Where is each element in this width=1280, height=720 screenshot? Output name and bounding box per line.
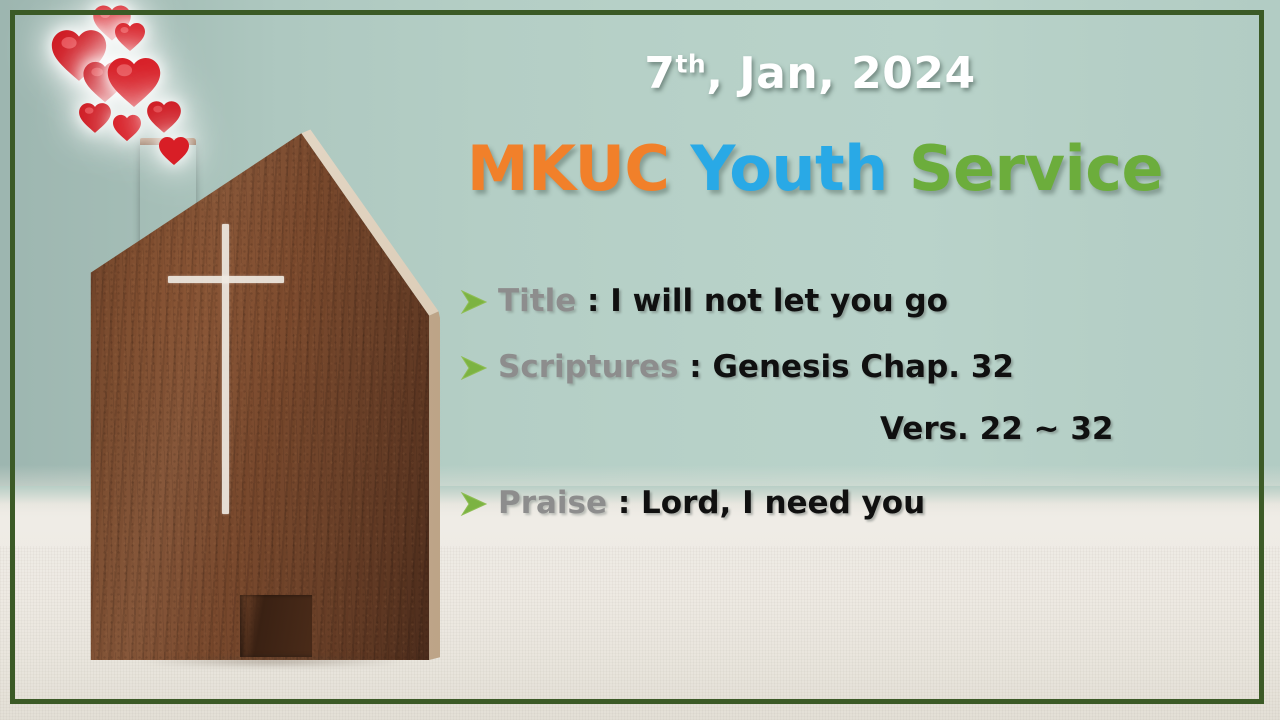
service-details-list: Title : I will not let you go Scriptures… (460, 282, 1260, 550)
service-date: 7th, Jan, 2024 (420, 48, 1200, 99)
title-word-service: Service (909, 132, 1163, 205)
scripture-verses: Vers. 22 ~ 32 (880, 411, 1113, 447)
heart-icon (114, 22, 146, 52)
service-date-day: 7 (644, 48, 675, 99)
list-item-separator: : (618, 485, 630, 521)
service-date-ordinal: th (675, 49, 706, 78)
list-item-text: Title : I will not let you go (498, 282, 948, 321)
slide-canvas: 7th, Jan, 2024 MKUC Youth Service Title … (0, 0, 1280, 720)
slide-text-area: 7th, Jan, 2024 MKUC Youth Service Title … (420, 0, 1260, 720)
list-item-value: Genesis Chap. 32 (712, 349, 1014, 385)
cross-icon-vertical (222, 224, 229, 514)
list-item-label: Scriptures (498, 349, 678, 385)
church-door (240, 595, 312, 657)
church-body (80, 122, 440, 660)
list-item-text: Praise : Lord, I need you (498, 484, 925, 523)
title-word-mkuc: MKUC (467, 132, 670, 205)
list-item-value: Lord, I need you (641, 485, 925, 521)
list-item: Title : I will not let you go (460, 282, 1260, 326)
service-title: MKUC Youth Service (420, 132, 1210, 205)
list-item: Scriptures : Genesis Chap. 32 (460, 348, 1260, 392)
heart-icon (112, 114, 142, 142)
wooden-church-image (48, 110, 468, 660)
heart-icon (146, 100, 182, 134)
heart-icon (78, 102, 112, 134)
title-word-youth: Youth (691, 132, 888, 205)
church-shadow (88, 655, 458, 671)
list-item-text: Vers. 22 ~ 32 (880, 410, 1113, 449)
list-item-value: I will not let you go (610, 283, 948, 319)
cross-icon-horizontal (168, 276, 284, 283)
list-item: Praise : Lord, I need you (460, 484, 1260, 528)
list-item-separator: : (689, 349, 701, 385)
list-item-separator: : (587, 283, 599, 319)
list-item-text: Scriptures : Genesis Chap. 32 (498, 348, 1014, 387)
arrow-bullet-icon (460, 348, 498, 381)
heart-icon (158, 136, 190, 166)
list-item-label: Title (498, 283, 576, 319)
list-item-label: Praise (498, 485, 607, 521)
arrow-bullet-icon (460, 282, 498, 315)
list-item-continuation: Vers. 22 ~ 32 (460, 410, 1260, 454)
floating-hearts-group (30, 0, 250, 190)
arrow-bullet-icon (460, 484, 498, 517)
service-date-rest: , Jan, 2024 (706, 48, 975, 99)
